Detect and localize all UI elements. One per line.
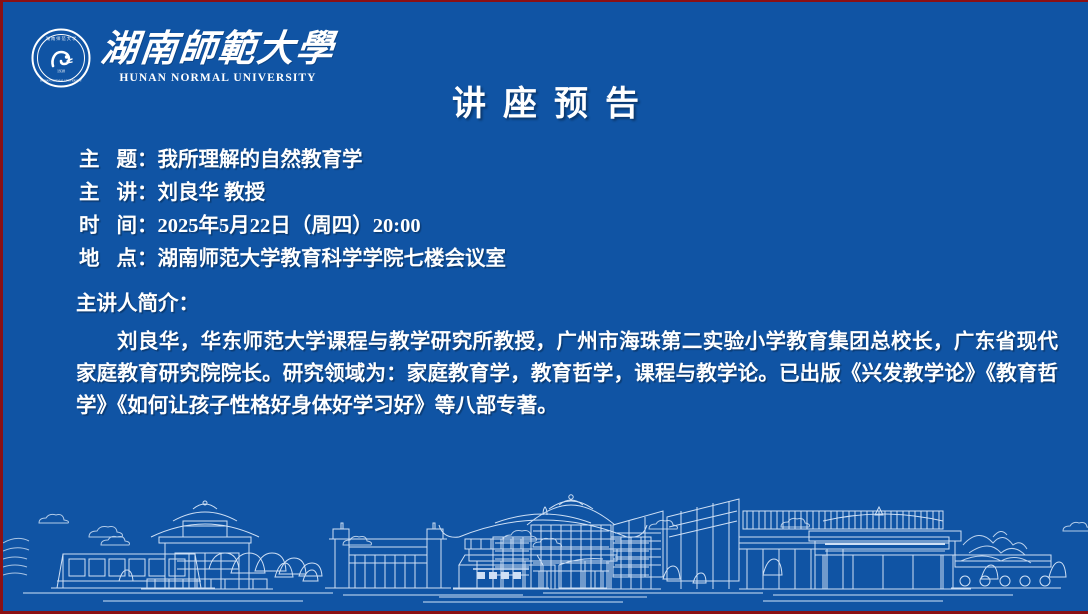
info-row-time: 时间： 2025年5月22日（周四）20:00	[79, 208, 1039, 241]
info-label-topic: 主题：	[79, 142, 158, 172]
info-value-topic: 我所理解的自然教育学	[158, 142, 363, 172]
svg-text:1938: 1938	[57, 69, 65, 74]
info-label-location: 地点：	[79, 241, 158, 271]
info-label-speaker: 主讲：	[79, 175, 158, 205]
info-row-location: 地点： 湖南师范大学教育科学学院七楼会议室	[79, 241, 1039, 274]
svg-text:湖 南 师 范 大 学: 湖 南 师 范 大 学	[46, 35, 76, 42]
campus-skyline-illustration	[3, 481, 1088, 611]
info-value-time: 2025年5月22日（周四）20:00	[158, 208, 421, 238]
speaker-bio-body: 刘良华，华东师范大学课程与教学研究所教授，广州市海珠第二实验小学教育集团总校长，…	[76, 326, 1058, 422]
info-label-time: 时间：	[79, 208, 158, 238]
info-row-topic: 主题： 我所理解的自然教育学	[79, 142, 1039, 175]
page-title: 讲座预告	[3, 76, 1088, 125]
info-value-location: 湖南师范大学教育科学学院七楼会议室	[158, 241, 507, 271]
university-name-cn: 湖南師範大學	[99, 31, 337, 68]
info-value-speaker: 刘良华 教授	[158, 175, 266, 205]
info-row-speaker: 主讲： 刘良华 教授	[79, 175, 1039, 208]
lecture-announcement-poster: 1938 湖 南 师 范 大 学 HUNAN NORMAL UNIVERSITY…	[0, 0, 1088, 614]
speaker-bio-heading: 主讲人简介：	[76, 286, 199, 316]
lecture-info-list: 主题： 我所理解的自然教育学 主讲： 刘良华 教授 时间： 2025年5月22日…	[79, 142, 1039, 274]
campus-skyline-illustration-right	[3, 481, 1088, 611]
